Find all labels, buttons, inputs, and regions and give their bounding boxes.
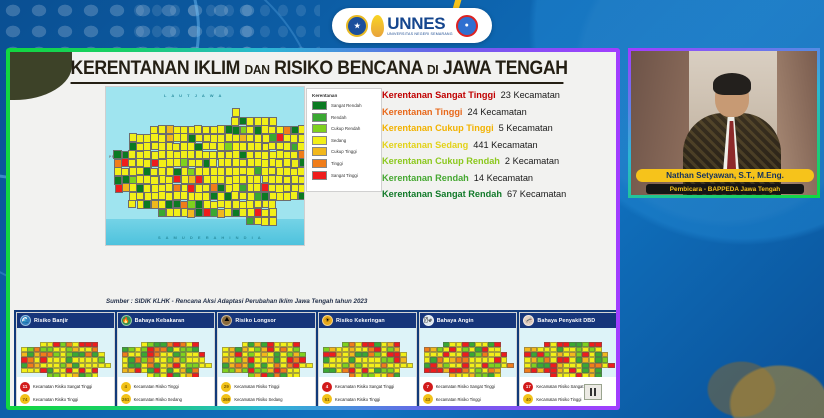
risk-panel: 🌊Risiko Banjir11Kecamatan Risiko Sangat … (16, 312, 115, 406)
vulnerability-stat-row: Kerentanan Sangat Rendah67 Kecamatan (382, 189, 612, 199)
risk-panel-stat-count: 368 (221, 394, 231, 404)
risk-panel-map (420, 328, 517, 377)
map-legend-title: Kerentanan (312, 93, 377, 98)
map-legend-item: Sangat Rendah (312, 101, 377, 110)
map-legend-label: Tinggi (331, 161, 343, 166)
vulnerability-stat-value: 24 Kecamatan (468, 107, 527, 117)
risk-panel-stat-label: Kecamatan Risiko Sangat Tinggi (436, 384, 495, 389)
speaker-name: Nathan Setyawan, S.T., M.Eng. (636, 169, 814, 182)
shared-screen-frame[interactable]: KERENTANAN IKLIM DAN RISIKO BENCANA DI J… (6, 48, 620, 410)
risk-panel-title: Risiko Kekeringan (336, 318, 385, 324)
risk-panel: ☀Risiko Kekeringan4Kecamatan Risiko Sang… (318, 312, 417, 406)
risk-panel-footer: 29Kecamatan Risiko Tinggi368Kecamatan Ri… (218, 377, 315, 406)
risk-panel-header: ⛰Risiko Longsor (218, 313, 315, 328)
slide-title-dan: DAN (245, 62, 270, 77)
map-legend-label: Sangat Tinggi (331, 173, 358, 178)
slide-title-part1: KERENTANAN IKLIM (71, 58, 245, 79)
map-legend-label: Cukup Tinggi (331, 149, 357, 154)
vulnerability-stat-value: 67 Kecamatan (507, 189, 566, 199)
risk-panel-map-districts (122, 340, 212, 376)
pause-bar-left (590, 388, 592, 396)
garuda-decoration (674, 322, 824, 418)
mosquito-icon: 🦟 (523, 315, 534, 326)
risk-panel-map-districts (424, 340, 514, 376)
risk-panel-stat: 74Kecamatan Risiko Tinggi (20, 394, 112, 404)
map-legend-item: Sedang (312, 136, 377, 145)
unnes-seal-icon: ★ (346, 15, 368, 37)
risk-panel-stat-count: 4 (121, 382, 131, 392)
vulnerability-stat-name: Kerentanan Sedang (382, 140, 468, 150)
vulnerability-map: L A U T J A W A S A M U D E R A H I N D … (105, 86, 305, 246)
risk-panel-stat: 4Kecamatan Risiko Tinggi (121, 382, 213, 392)
vulnerability-stat-name: Kerentanan Tinggi (382, 107, 463, 117)
risk-panel-stat-label: Kecamatan Risiko Tinggi (335, 397, 380, 402)
risk-panel-stat-count: 74 (20, 394, 30, 404)
risk-panel-stat-count: 40 (523, 394, 533, 404)
map-legend-rows: Sangat RendahRendahCukup RendahSedangCuk… (312, 101, 377, 180)
pause-bar-right (594, 388, 596, 396)
risk-panel-stat-label: Kecamatan Risiko Tinggi (436, 397, 481, 402)
risk-panel-map-districts (524, 340, 614, 376)
risk-panel-stat-count: 4 (322, 382, 332, 392)
risk-panel-map-districts (21, 340, 111, 376)
fire-icon: 🔥 (121, 315, 132, 326)
slide-title-part3: JAWA TENGAH (438, 58, 567, 79)
unnes-logo: ★ UNNES UNIVERSITAS NEGERI SEMARANG ● (332, 8, 492, 43)
risk-panel-stat-count: 261 (121, 394, 131, 404)
map-legend-swatch (312, 113, 327, 122)
vulnerability-stat-row: Kerentanan Sedang441 Kecamatan (382, 140, 612, 150)
map-legend-swatch (312, 136, 327, 145)
vulnerability-stat-row: Kerentanan Rendah14 Kecamatan (382, 173, 612, 183)
risk-panel-header: 🌬Bahaya Angin (420, 313, 517, 328)
risk-panel-map (118, 328, 215, 377)
risk-panel-footer: 7Kecamatan Risiko Sangat Tinggi43Kecamat… (420, 377, 517, 406)
unnes-logo-text: UNNES (387, 15, 452, 32)
risk-panel-stat-label: Kecamatan Risiko Tinggi (134, 384, 179, 389)
speaker-nameplate: Nathan Setyawan, S.T., M.Eng. Pembicara … (636, 169, 814, 194)
risk-panel-stat-count: 51 (322, 394, 332, 404)
risk-panel-footer: 4Kecamatan Risiko Tinggi261Kecamatan Ris… (118, 377, 215, 406)
risk-panel-header: ☀Risiko Kekeringan (319, 313, 416, 328)
slide-decor-blob (10, 52, 72, 100)
risk-panel-stat-label: Kecamatan Risiko Tinggi (536, 397, 581, 402)
risk-panel-map (17, 328, 114, 377)
risk-panel-stat: 7Kecamatan Risiko Sangat Tinggi (423, 382, 515, 392)
risk-panel-stat-count: 17 (523, 382, 533, 392)
risk-panel-map (520, 328, 616, 377)
risk-panel-stat: 29Kecamatan Risiko Tinggi (221, 382, 313, 392)
speaker-hair (713, 73, 751, 95)
risk-panel-title: Bahaya Penyakit DBD (537, 318, 595, 324)
risk-panel-map-districts (222, 340, 312, 376)
map-legend-item: Rendah (312, 113, 377, 122)
risk-panel-footer: 4Kecamatan Risiko Sangat Tinggi51Kecamat… (319, 377, 416, 406)
risk-panel-footer: 11Kecamatan Risiko Sangat Tinggi74Kecama… (17, 377, 114, 406)
risk-panel-map-districts (323, 340, 413, 376)
risk-panel-stat: 368Kecamatan Risiko Sedang (221, 394, 313, 404)
risk-panel: 🔥Bahaya Kebakaran4Kecamatan Risiko Tingg… (117, 312, 216, 406)
map-legend-swatch (312, 171, 327, 180)
vulnerability-stat-value: 14 Kecamatan (474, 173, 533, 183)
risk-panel-stat: 261Kecamatan Risiko Sedang (121, 394, 213, 404)
risk-panel-stat-count: 11 (20, 382, 30, 392)
vulnerability-stat-name: Kerentanan Sangat Rendah (382, 189, 502, 199)
risk-panel-header: 🌊Risiko Banjir (17, 313, 114, 328)
risk-panel-stat-count: 29 (221, 382, 231, 392)
risk-panel-stat-label: Kecamatan Risiko Sangat Tinggi (335, 384, 394, 389)
risk-panel-header: 🔥Bahaya Kebakaran (118, 313, 215, 328)
risk-panel-strip: 🌊Risiko Banjir11Kecamatan Risiko Sangat … (14, 310, 616, 406)
risk-panel-header: 🦟Bahaya Penyakit DBD (520, 313, 616, 328)
slide-title: KERENTANAN IKLIM DAN RISIKO BENCANA DI J… (71, 58, 564, 84)
webinar-stage: ★ UNNES UNIVERSITAS NEGERI SEMARANG ● KE… (0, 0, 824, 418)
map-districts-layer (114, 109, 298, 225)
map-legend-swatch (312, 147, 327, 156)
pause-button[interactable] (584, 384, 602, 400)
unnes-logo-subtext: UNIVERSITAS NEGERI SEMARANG (387, 33, 452, 37)
risk-panel-stat-label: Kecamatan Risiko Sangat Tinggi (33, 384, 92, 389)
risk-panel-stat: 4Kecamatan Risiko Sangat Tinggi (322, 382, 414, 392)
vulnerability-stats-list: Kerentanan Sangat Tinggi23 KecamatanKere… (382, 90, 612, 206)
risk-panel-title: Risiko Banjir (34, 318, 68, 324)
vulnerability-stat-row: Kerentanan Tinggi24 Kecamatan (382, 107, 612, 117)
map-legend: Kerentanan Sangat RendahRendahCukup Rend… (306, 88, 382, 192)
unnes-wordmark: UNNES UNIVERSITAS NEGERI SEMARANG (387, 15, 452, 37)
vulnerability-stat-value: 2 Kecamatan (505, 156, 559, 166)
risk-panel: 🌬Bahaya Angin7Kecamatan Risiko Sangat Ti… (419, 312, 518, 406)
vulnerability-stat-value: 5 Kecamatan (499, 123, 553, 133)
map-legend-swatch (312, 124, 327, 133)
unnes-flame-icon (371, 15, 384, 37)
map-legend-item: Cukup Tinggi (312, 147, 377, 156)
vulnerability-stat-name: Kerentanan Cukup Rendah (382, 156, 500, 166)
map-legend-label: Sedang (331, 138, 346, 143)
slide-source-note: Sumber : SIDIK KLHK - Rencana Aksi Adapt… (106, 298, 367, 305)
risk-panel-stat: 43Kecamatan Risiko Tinggi (423, 394, 515, 404)
risk-panel-stat-label: Kecamatan Risiko Tinggi (234, 384, 279, 389)
map-legend-label: Rendah (331, 115, 346, 120)
drought-icon: ☀ (322, 315, 333, 326)
map-legend-label: Cukup Rendah (331, 126, 360, 131)
map-legend-swatch (312, 101, 327, 110)
flood-icon: 🌊 (20, 315, 31, 326)
map-legend-label: Sangat Rendah (331, 103, 362, 108)
secondary-seal-icon: ● (456, 15, 478, 37)
map-legend-item: Tinggi (312, 159, 377, 168)
risk-panel-stat: 11Kecamatan Risiko Sangat Tinggi (20, 382, 112, 392)
vulnerability-stat-value: 23 Kecamatan (501, 90, 560, 100)
risk-panel: ⛰Risiko Longsor29Kecamatan Risiko Tinggi… (217, 312, 316, 406)
risk-panel-map (218, 328, 315, 377)
map-label-laut-jawa: L A U T J A W A (164, 93, 223, 98)
risk-panel-title: Bahaya Angin (437, 318, 474, 324)
wind-icon: 🌬 (423, 315, 434, 326)
risk-panel-map (319, 328, 416, 377)
map-legend-item: Cukup Rendah (312, 124, 377, 133)
speaker-role: Pembicara - BAPPEDA Jawa Tengah (646, 184, 804, 194)
vulnerability-stat-row: Kerentanan Sangat Tinggi23 Kecamatan (382, 90, 612, 100)
vulnerability-stat-name: Kerentanan Rendah (382, 173, 469, 183)
map-label-samudera-hindia: S A M U D E R A H I N D I A (158, 235, 263, 240)
risk-panel-stat-count: 43 (423, 394, 433, 404)
risk-panel-stat-label: Kecamatan Risiko Tinggi (33, 397, 78, 402)
slide-title-di: DI (427, 62, 438, 77)
risk-panel-stat-label: Kecamatan Risiko Sedang (234, 397, 282, 402)
risk-panel-stat-count: 7 (423, 382, 433, 392)
vulnerability-stat-name: Kerentanan Sangat Tinggi (382, 90, 496, 100)
map-legend-swatch (312, 159, 327, 168)
vulnerability-stat-name: Kerentanan Cukup Tinggi (382, 123, 494, 133)
map-legend-item: Sangat Tinggi (312, 171, 377, 180)
risk-panel-title: Risiko Longsor (235, 318, 276, 324)
landslide-icon: ⛰ (221, 315, 232, 326)
risk-panel-stat: 51Kecamatan Risiko Tinggi (322, 394, 414, 404)
presentation-slide: KERENTANAN IKLIM DAN RISIKO BENCANA DI J… (10, 52, 616, 406)
vulnerability-stat-row: Kerentanan Cukup Tinggi5 Kecamatan (382, 123, 612, 133)
risk-panel-stat-label: Kecamatan Risiko Sedang (134, 397, 182, 402)
slide-title-part2: RISIKO BENCANA (270, 58, 427, 79)
vulnerability-stat-value: 441 Kecamatan (473, 140, 537, 150)
risk-panel-title: Bahaya Kebakaran (135, 318, 185, 324)
vulnerability-stat-row: Kerentanan Cukup Rendah2 Kecamatan (382, 156, 612, 166)
